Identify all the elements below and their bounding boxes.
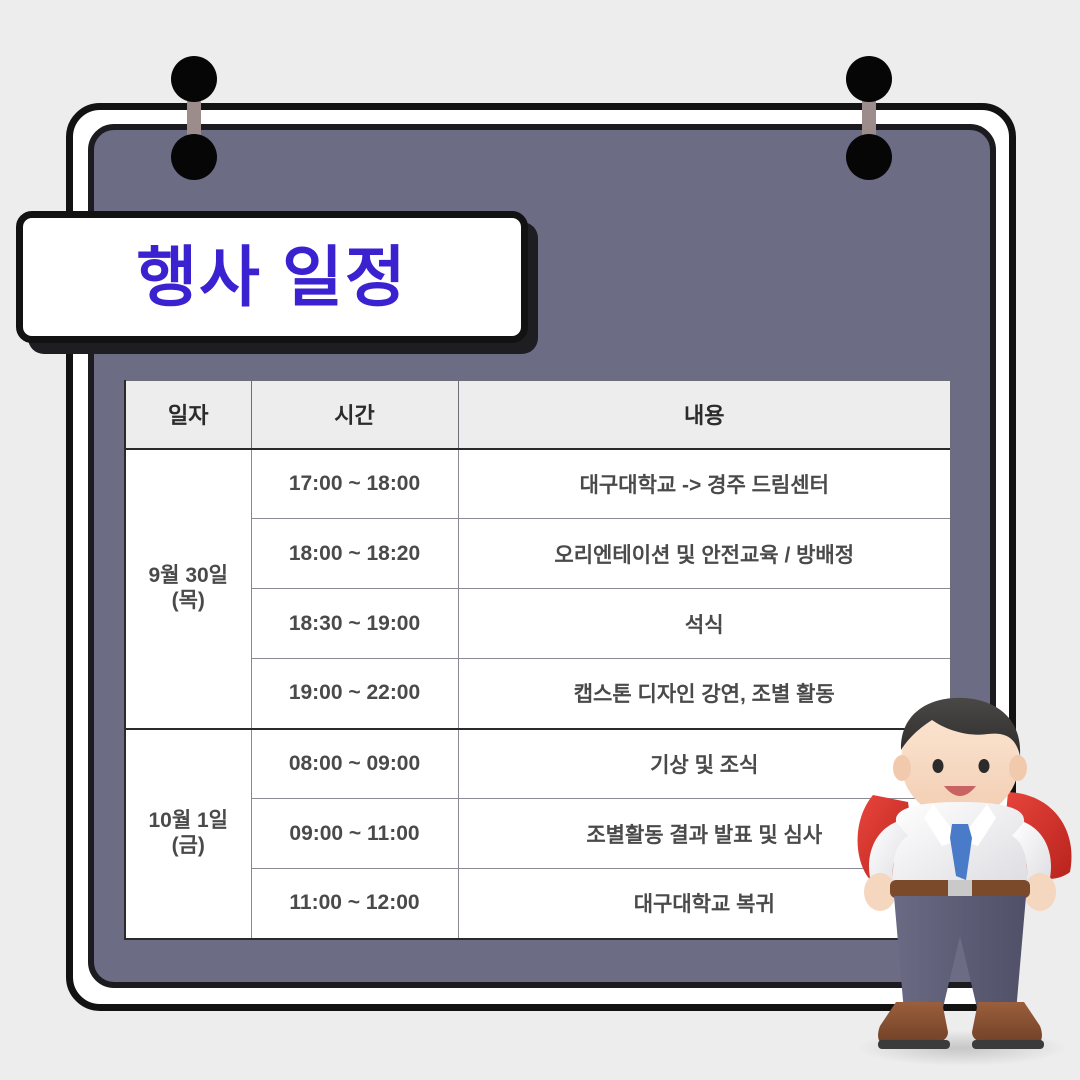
schedule-table-head: 일자 시간 내용 bbox=[125, 381, 951, 449]
pin-left-icon bbox=[171, 56, 217, 166]
mascot-pants bbox=[894, 896, 1026, 1012]
date-cell-day1: 9월 30일 (목) bbox=[125, 449, 251, 729]
mascot-eye-left bbox=[933, 759, 944, 773]
mascot-shoe-sole-left bbox=[878, 1040, 950, 1049]
content-cell: 오리엔테이션 및 안전교육 / 방배정 bbox=[458, 519, 951, 589]
mascot-shoe-left bbox=[878, 1002, 948, 1046]
date-line-secondary: (금) bbox=[126, 834, 251, 858]
poster-canvas: 행사 일정 일자 시간 내용 9월 30일 (목) 17:00 ~ 18:00 bbox=[0, 0, 1080, 1080]
schedule-table-body: 9월 30일 (목) 17:00 ~ 18:00 대구대학교 -> 경주 드림센… bbox=[125, 449, 951, 939]
time-cell: 08:00 ~ 09:00 bbox=[251, 729, 458, 799]
column-header-date: 일자 bbox=[125, 381, 251, 449]
table-header-row: 일자 시간 내용 bbox=[125, 381, 951, 449]
time-cell: 11:00 ~ 12:00 bbox=[251, 869, 458, 939]
column-header-content: 내용 bbox=[458, 381, 951, 449]
time-cell: 19:00 ~ 22:00 bbox=[251, 659, 458, 729]
time-cell: 18:30 ~ 19:00 bbox=[251, 589, 458, 659]
time-cell: 18:00 ~ 18:20 bbox=[251, 519, 458, 589]
mascot-shoe-sole-right bbox=[972, 1040, 1044, 1049]
table-row: 9월 30일 (목) 17:00 ~ 18:00 대구대학교 -> 경주 드림센… bbox=[125, 449, 951, 519]
pin-right-icon bbox=[846, 56, 892, 166]
mascot-belt-buckle bbox=[948, 880, 972, 898]
page-title: 행사 일정 bbox=[136, 244, 407, 310]
column-header-time: 시간 bbox=[251, 381, 458, 449]
title-plaque: 행사 일정 bbox=[16, 211, 528, 343]
date-line-primary: 10월 1일 bbox=[126, 809, 251, 833]
date-cell-day2: 10월 1일 (금) bbox=[125, 729, 251, 939]
mascot-eye-right bbox=[979, 759, 990, 773]
date-line-secondary: (목) bbox=[126, 589, 251, 613]
mascot-ear-right bbox=[1009, 755, 1027, 781]
mascot-ear-left bbox=[893, 755, 911, 781]
pin-left-knob-top bbox=[171, 56, 217, 102]
time-cell: 17:00 ~ 18:00 bbox=[251, 449, 458, 519]
content-cell: 대구대학교 -> 경주 드림센터 bbox=[458, 449, 951, 519]
time-cell: 09:00 ~ 11:00 bbox=[251, 799, 458, 869]
pin-right-knob-top bbox=[846, 56, 892, 102]
table-row: 10월 1일 (금) 08:00 ~ 09:00 기상 및 조식 bbox=[125, 729, 951, 799]
content-cell: 석식 bbox=[458, 589, 951, 659]
pin-left-knob-bottom bbox=[171, 134, 217, 180]
mascot-shoe-right bbox=[972, 1002, 1042, 1046]
pin-right-knob-bottom bbox=[846, 134, 892, 180]
superhero-businessman-mascot bbox=[838, 690, 1080, 1080]
schedule-table: 일자 시간 내용 9월 30일 (목) 17:00 ~ 18:00 대구대학교 … bbox=[124, 380, 952, 940]
date-line-primary: 9월 30일 bbox=[126, 564, 251, 588]
